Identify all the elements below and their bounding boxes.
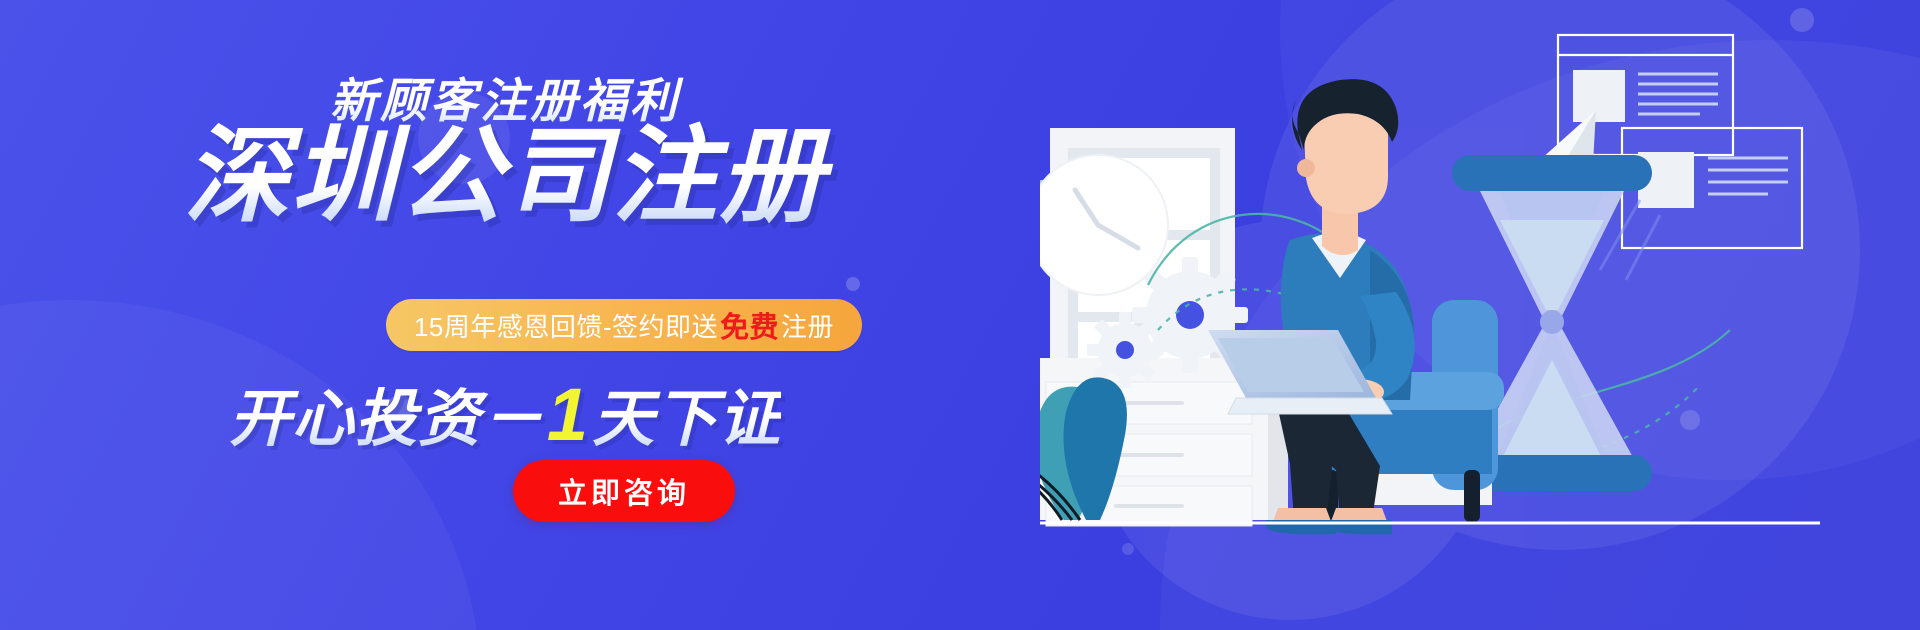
clock-icon [1040,155,1168,295]
consult-now-button[interactable]: 立即咨询 [513,460,735,522]
subline-before-text: 开心投资－ [229,385,544,454]
promo-highlight-text: 免费 [718,304,781,346]
promo-prefix-text: 15周年感恩回馈-签约即送 [414,307,718,344]
promo-banner: 新顾客注册福利 深圳公司注册 15周年感恩回馈-签约即送免费注册 开心投资－1天… [0,0,1920,630]
subline-number: 1 [544,373,592,456]
promo-suffix-text: 注册 [781,307,834,344]
promo-pill: 15周年感恩回馈-签约即送免费注册 [386,299,862,351]
headline-block: 新顾客注册福利 深圳公司注册 15周年感恩回馈-签约即送免费注册 开心投资－1天… [0,0,1010,630]
subline-after-text: 天下证 [592,385,781,454]
page-title: 深圳公司注册 [0,118,1010,236]
subline-text: 开心投资－1天下证 [0,368,1010,458]
hero-illustration [1040,0,1920,630]
consult-now-label: 立即咨询 [558,470,690,512]
